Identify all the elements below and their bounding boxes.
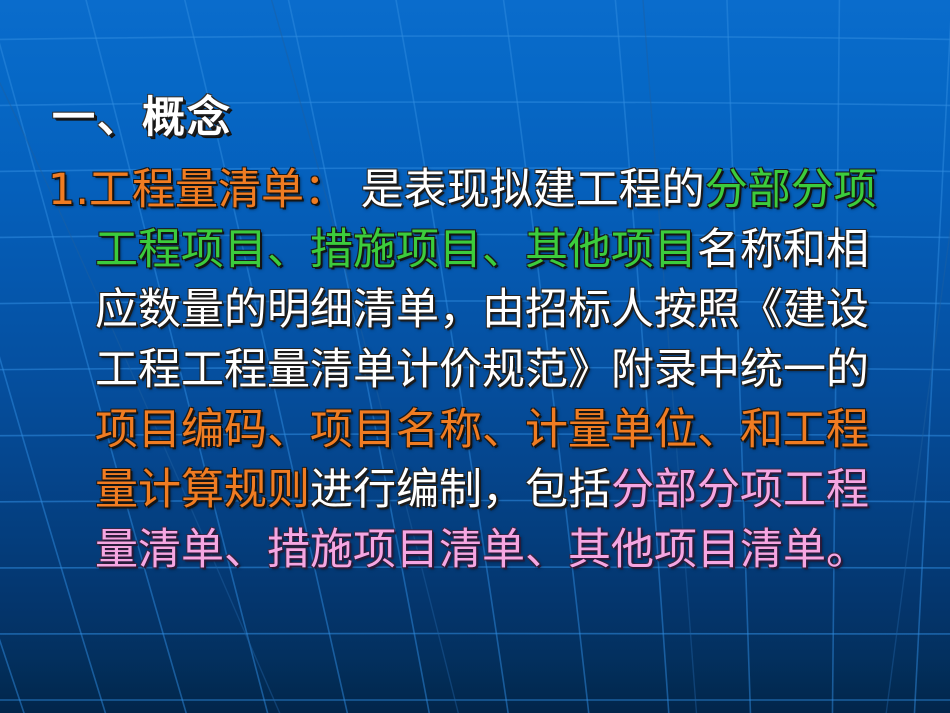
text-line: 应数量的明细清单，由招标人按照《建设 [48, 280, 938, 340]
text-segment: 工程工程量清单计价规范》附录中统一的 [95, 345, 869, 395]
text-segment: 1. [48, 165, 89, 215]
presentation-slide: 一、概念 1.工程量清单： 是表现拟建工程的分部分项 工程项目、措施项目、其他项… [0, 0, 950, 713]
body-text-block: 1.工程量清单： 是表现拟建工程的分部分项 工程项目、措施项目、其他项目名称和相… [48, 160, 938, 580]
text-segment: 工程量清单： [89, 165, 347, 215]
text-segment: 是表现拟建工程的 [347, 165, 705, 215]
text-segment: 分部分项工程 [611, 465, 869, 515]
page-title: 一、概念 [52, 83, 232, 145]
text-segment: 分部分项 [705, 165, 877, 215]
text-segment: 工程项目、措施项目、其他项目 [95, 225, 697, 275]
text-line: 1.工程量清单： 是表现拟建工程的分部分项 [48, 160, 938, 220]
text-segment: 量计算规则 [95, 465, 310, 515]
text-line: 工程工程量清单计价规范》附录中统一的 [48, 340, 938, 400]
text-segment: 进行编制，包括 [310, 465, 611, 515]
text-line: 工程项目、措施项目、其他项目名称和相 [48, 220, 938, 280]
text-segment: 应数量的明细清单，由招标人按照《建设 [95, 285, 869, 335]
text-line: 量清单、措施项目清单、其他项目清单。 [48, 520, 938, 580]
text-segment: 名称和相 [697, 225, 869, 275]
text-segment: 量清单、措施项目清单、其他项目清单。 [95, 525, 869, 575]
text-line: 量计算规则进行编制，包括分部分项工程 [48, 460, 938, 520]
text-line: 项目编码、项目名称、计量单位、和工程 [48, 400, 938, 460]
slide-content: 一、概念 1.工程量清单： 是表现拟建工程的分部分项 工程项目、措施项目、其他项… [0, 0, 950, 713]
text-segment: 项目编码、项目名称、计量单位、和工程 [95, 405, 869, 455]
